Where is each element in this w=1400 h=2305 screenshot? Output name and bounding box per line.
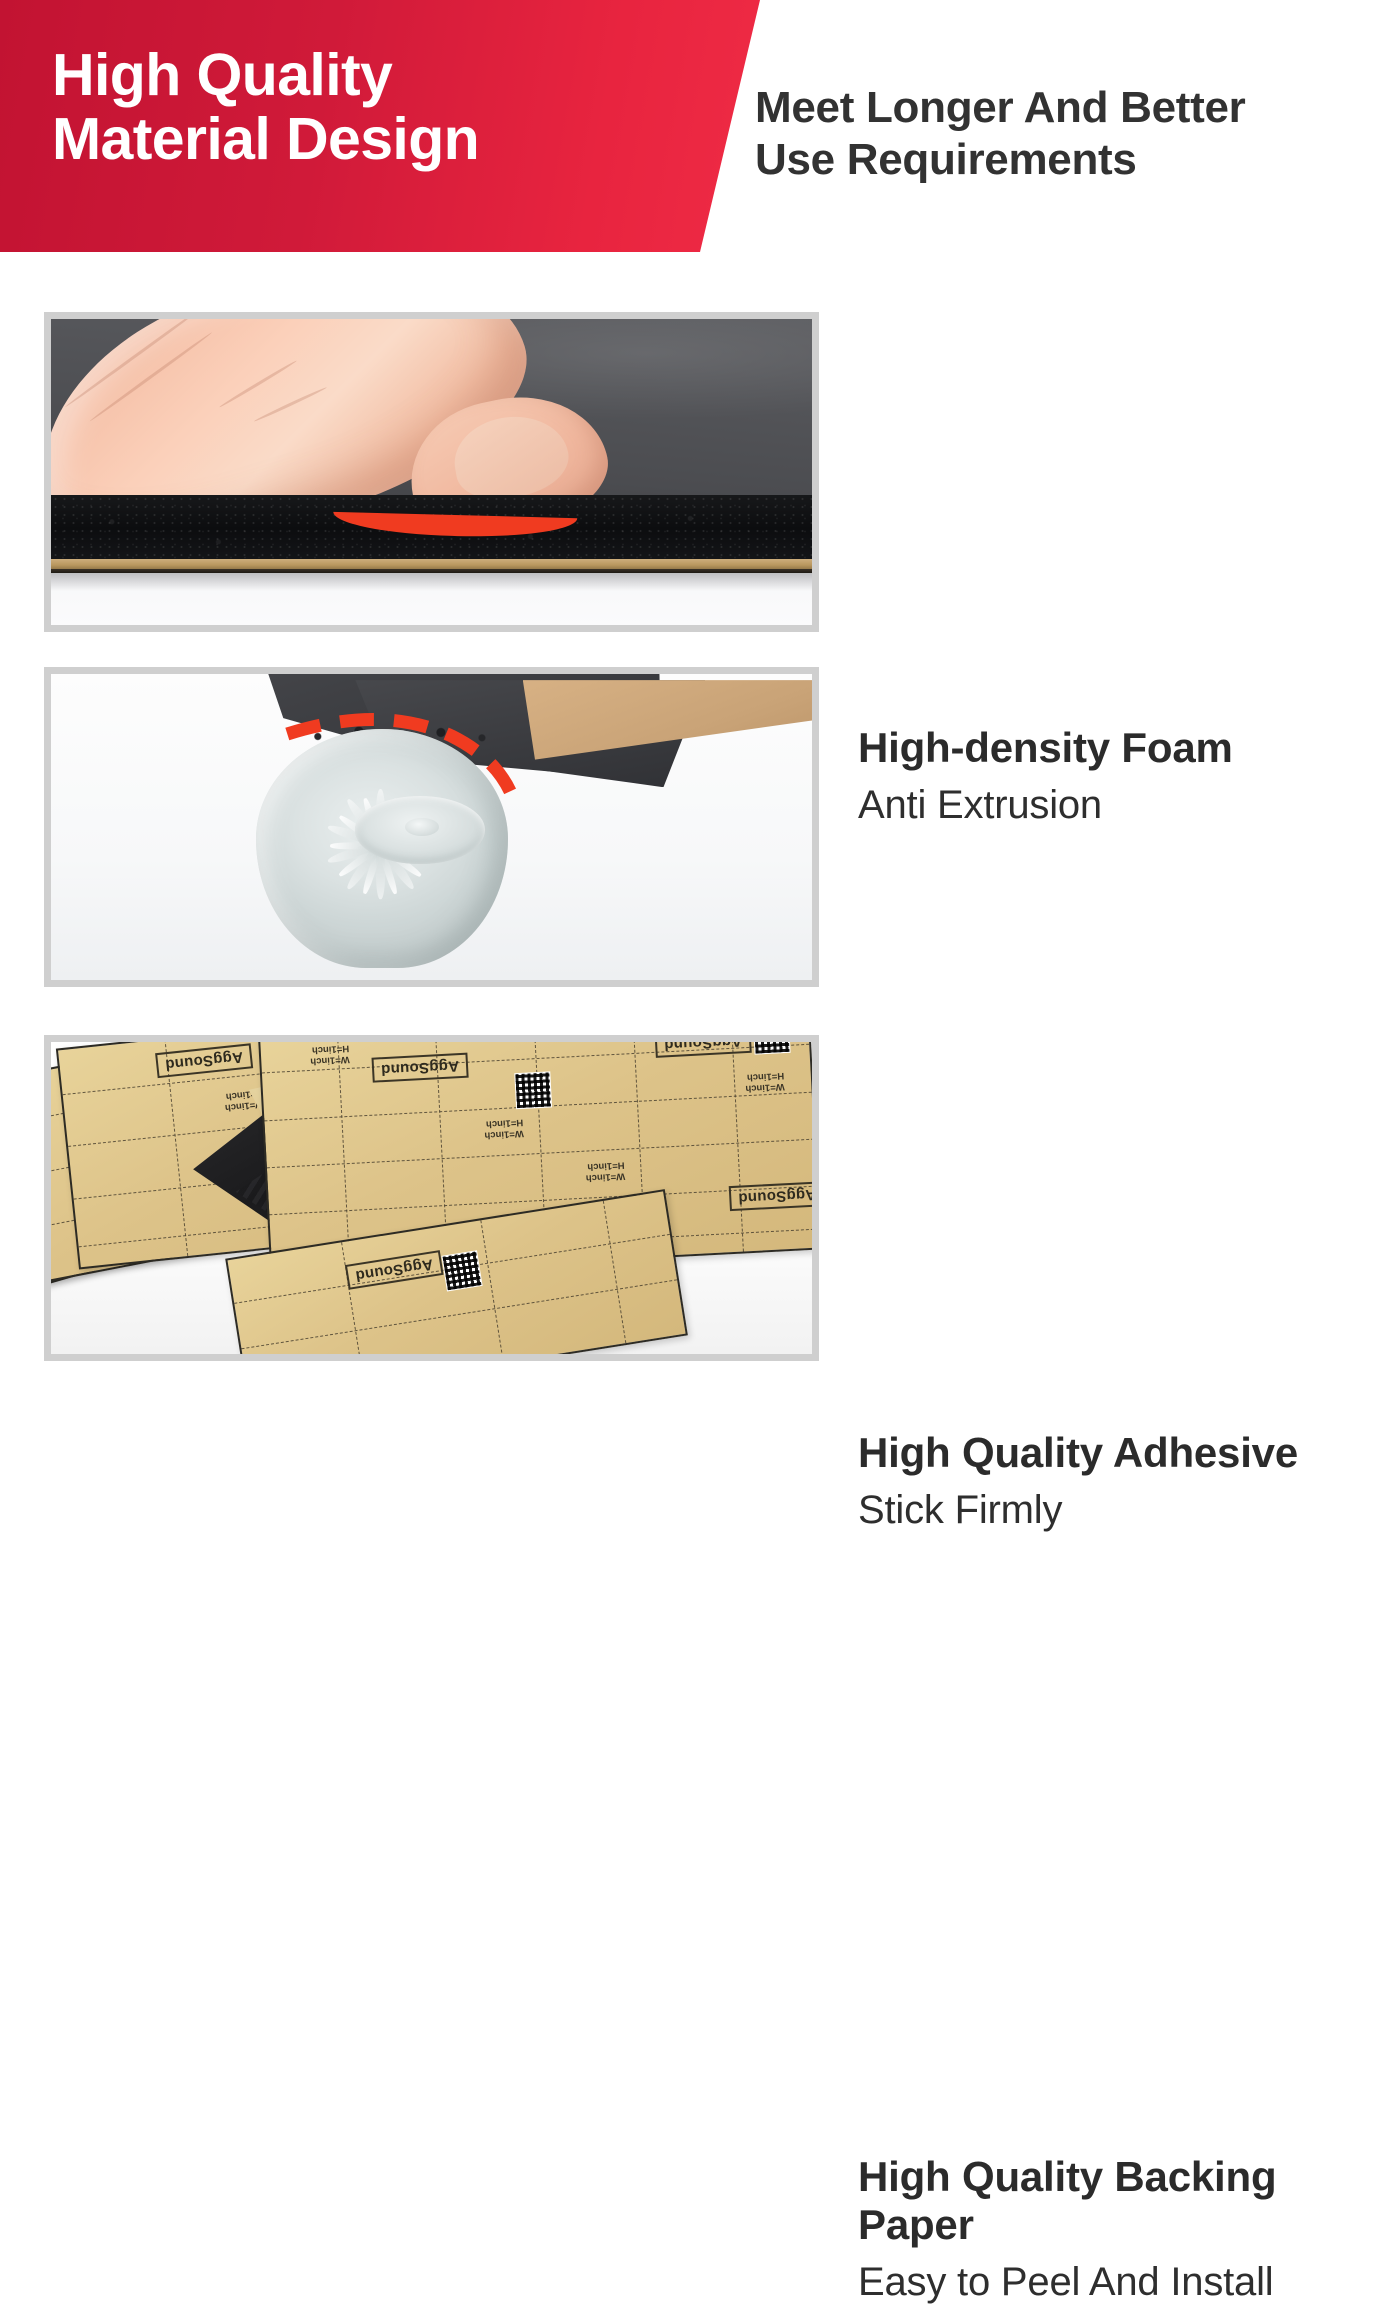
photo-kraft-backing-paper: AggSound AggSound W=1inch H=1inch [51, 1042, 812, 1354]
dimension-label: W=1inch H=1inch [585, 1158, 625, 1183]
feature-row-3: AggSound AggSound W=1inch H=1inch [0, 1035, 1400, 1361]
header: High Quality Material Design Meet Longer… [0, 0, 1400, 252]
feature-row-1: High-density Foam Anti Extrusion [0, 312, 1400, 632]
feature-title-2: High Quality Adhesive [858, 1429, 1388, 1477]
dimension-label: W=1inch H=1inch [745, 1069, 785, 1094]
feature-title-3: High Quality Backing Paper [858, 2153, 1388, 2249]
bottle-center-pip [405, 818, 439, 836]
photo-finger-pressing-foam [51, 319, 812, 625]
feature-text-3: High Quality Backing Paper Easy to Peel … [858, 2153, 1388, 2305]
qr-code-icon [514, 1072, 552, 1110]
dimension-label: W=1inch H=1inch [310, 1042, 350, 1067]
header-subtitle: Meet Longer And Better Use Requirements [755, 82, 1395, 186]
header-red-banner: High Quality Material Design [0, 0, 760, 252]
feature-subtitle-3: Easy to Peel And Install [858, 2259, 1388, 2305]
page-title: High Quality Material Design [52, 44, 479, 171]
feature-text-2: High Quality Adhesive Stick Firmly [858, 1429, 1388, 1533]
feature-photo-card-2 [44, 667, 819, 987]
brand-label: AggSound [371, 1053, 468, 1083]
feature-row-2: High Quality Adhesive Stick Firmly [0, 667, 1400, 987]
dimension-label: W=1inch H=1inch [484, 1116, 524, 1141]
qr-code-icon [753, 1042, 791, 1055]
photo-bottle-stuck-to-foam [51, 674, 812, 980]
feature-photo-card-1 [44, 312, 819, 632]
qr-code-icon [441, 1250, 482, 1291]
feature-photo-card-3: AggSound AggSound W=1inch H=1inch [44, 1035, 819, 1361]
feature-subtitle-2: Stick Firmly [858, 1487, 1388, 1533]
brand-label: AggSound [729, 1181, 812, 1211]
photo1-table-shadow [51, 573, 812, 591]
